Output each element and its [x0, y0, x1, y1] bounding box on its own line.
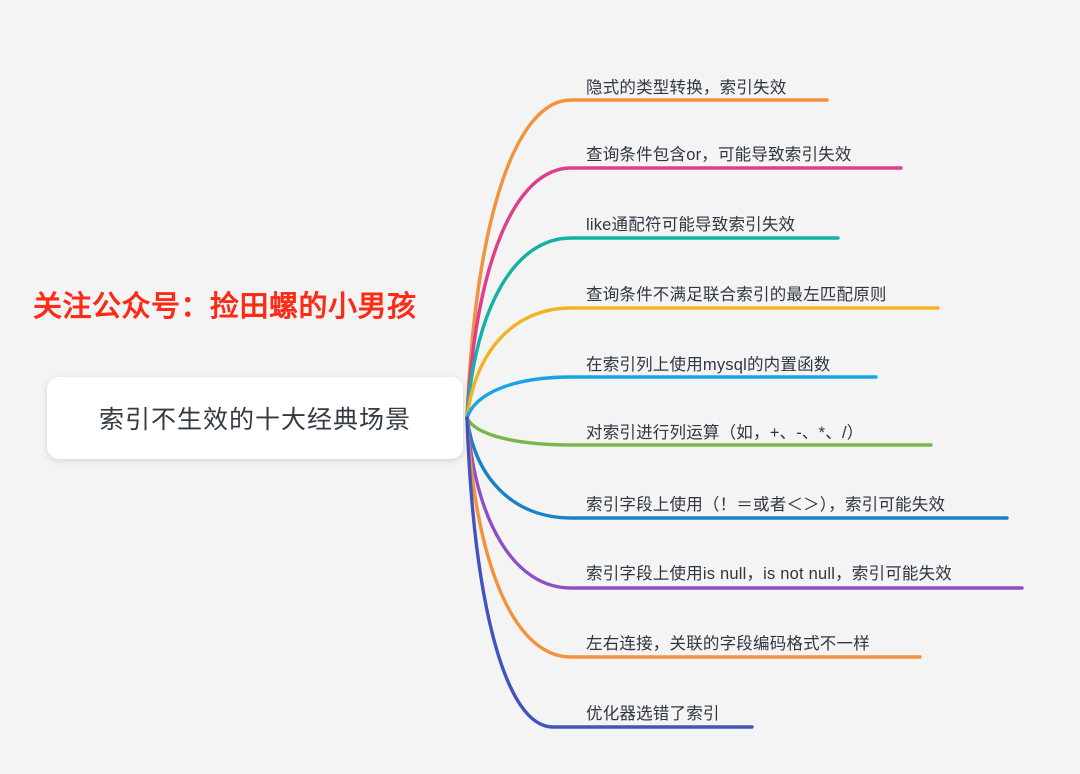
branch-label[interactable]: 查询条件不满足联合索引的最左匹配原则 [586, 287, 887, 304]
branch-label[interactable]: 对索引进行列运算（如，+、-、*、/） [586, 425, 863, 442]
branch-label[interactable]: 在索引列上使用mysql的内置函数 [586, 357, 831, 374]
branch-edge [467, 418, 920, 657]
branch-edge [467, 377, 876, 418]
branch-label[interactable]: like通配符可能导致索引失效 [586, 217, 795, 234]
root-node-label: 索引不生效的十大经典场景 [99, 400, 411, 436]
branch-label[interactable]: 优化器选错了索引 [586, 706, 720, 723]
mindmap-canvas: 关注公众号：捡田螺的小男孩 索引不生效的十大经典场景 隐式的类型转换，索引失效查… [0, 0, 1080, 774]
root-node[interactable]: 索引不生效的十大经典场景 [47, 377, 463, 459]
branch-label[interactable]: 隐式的类型转换，索引失效 [586, 80, 786, 97]
branch-label[interactable]: 索引字段上使用（！＝或者＜＞），索引可能失效 [586, 497, 945, 514]
branch-label[interactable]: 左右连接，关联的字段编码格式不一样 [586, 636, 870, 653]
branch-label[interactable]: 索引字段上使用is null，is not null，索引可能失效 [586, 566, 952, 583]
watermark-text: 关注公众号：捡田螺的小男孩 [33, 283, 417, 325]
branch-edge [467, 238, 838, 418]
branch-label[interactable]: 查询条件包含or，可能导致索引失效 [586, 147, 852, 164]
